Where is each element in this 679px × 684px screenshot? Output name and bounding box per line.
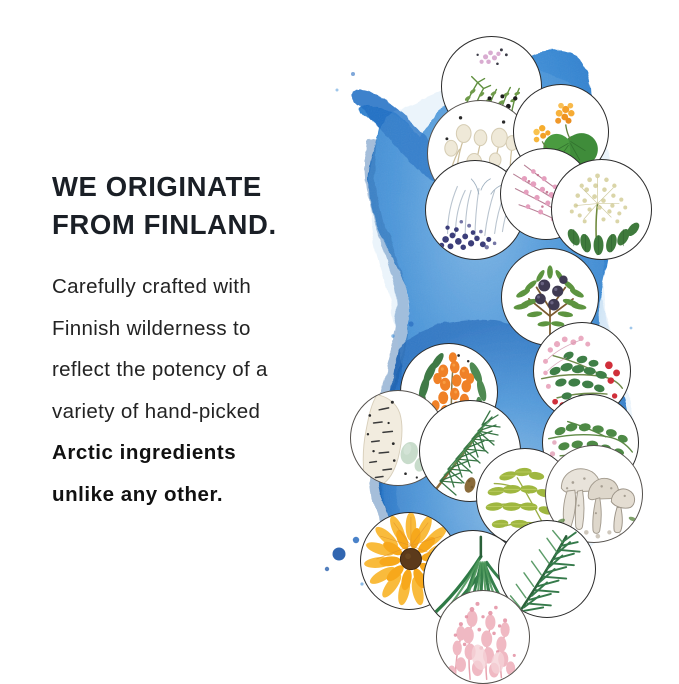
headline-line-1: WE ORIGINATE <box>52 171 262 202</box>
body-line-4: variety of hand-picked <box>52 391 352 433</box>
botanical-circle-meadowsweet <box>551 159 652 260</box>
body-line-3: reflect the potency of a <box>52 349 352 391</box>
body-copy: Carefully crafted with Finnish wildernes… <box>52 244 352 515</box>
page-title: WE ORIGINATE FROM FINLAND. <box>52 168 352 244</box>
body-line-6: unlike any other. <box>52 474 352 516</box>
body-line-2: Finnish wilderness to <box>52 308 352 350</box>
text-block: WE ORIGINATE FROM FINLAND. Carefully cra… <box>52 168 352 515</box>
poster-canvas: WE ORIGINATE FROM FINLAND. Carefully cra… <box>0 0 679 679</box>
botanical-circle-rosebay-willowherb <box>436 590 530 684</box>
body-line-1: Carefully crafted with <box>52 266 352 308</box>
headline-line-2: FROM FINLAND. <box>52 206 352 244</box>
body-line-5: Arctic ingredients <box>52 432 352 474</box>
